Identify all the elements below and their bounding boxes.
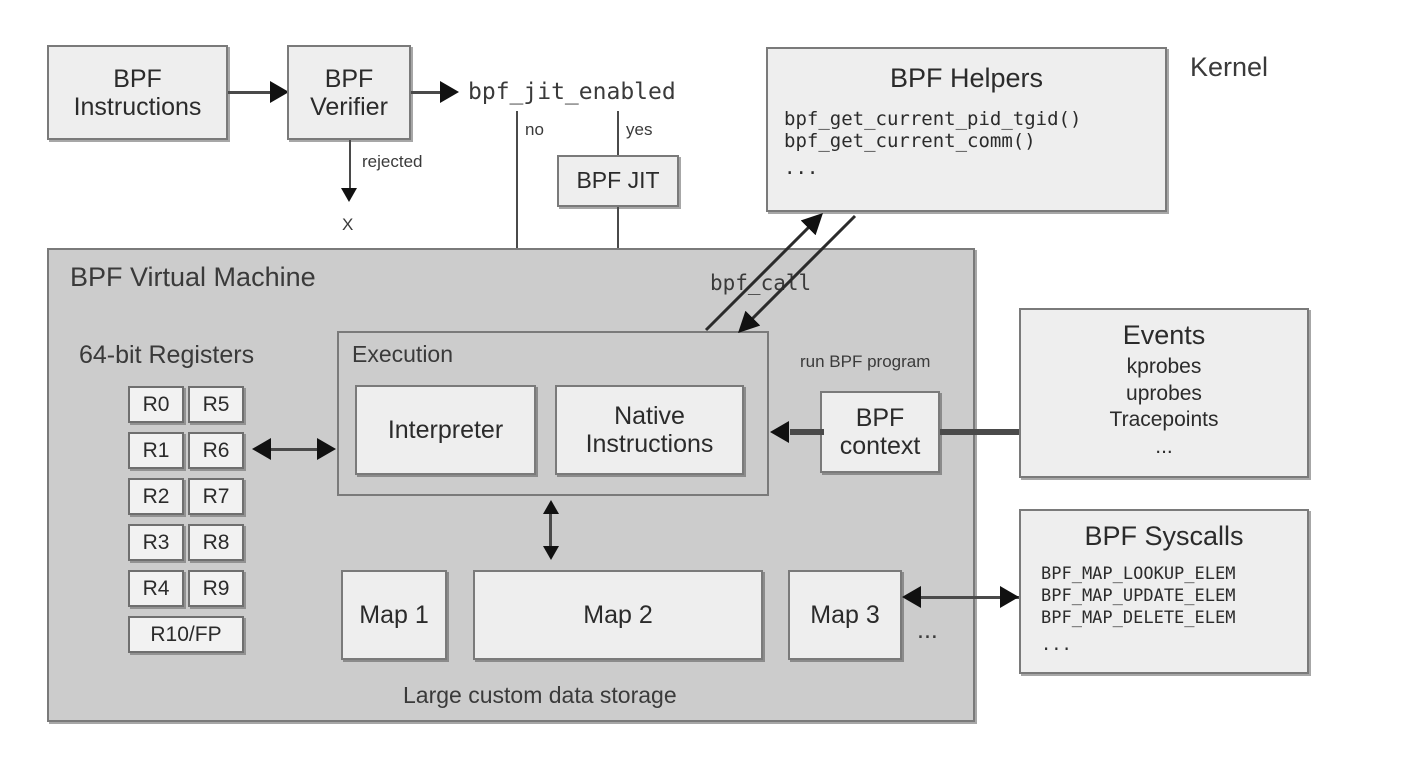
arrow-execution-maps-line [549,510,552,550]
arrow-map3-syscalls-head-right [1000,586,1019,608]
bpf-instructions-line1: BPF [113,65,162,93]
events-item-2: Tracepoints [1110,407,1219,433]
bpf-context-line2: context [840,432,921,460]
execution-title: Execution [352,341,453,368]
rejected-label: rejected [362,152,422,172]
branch-yes-line-top [617,111,619,155]
native-instructions-line2: Instructions [586,430,714,458]
branch-no-label: no [525,120,544,140]
map-1-label: Map 1 [359,601,428,629]
bpf-helpers-item-1: bpf_get_current_comm() [784,131,1081,152]
arrow-execution-maps-head-up [543,500,559,514]
native-instructions-line1: Native [614,402,685,430]
bpf-verifier-line1: BPF [325,65,374,93]
branch-yes-label: yes [626,120,652,140]
map-3-label: Map 3 [810,601,879,629]
rejected-x-mark: X [342,215,353,235]
map-2-box: Map 2 [473,570,763,660]
bpf-syscalls-title: BPF Syscalls [1084,521,1243,551]
arrow-context-to-execution-head [770,421,789,443]
bpf-syscalls-item-1: BPF_MAP_UPDATE_ELEM [1041,585,1235,607]
interpreter-label: Interpreter [388,416,503,444]
kernel-label: Kernel [1190,52,1268,83]
storage-label: Large custom data storage [403,682,677,709]
map-1-box: Map 1 [341,570,447,660]
arrow-registers-execution-head-left [252,438,271,460]
arrow-map3-syscalls-head-left [902,586,921,608]
bpf-helpers-item-0: bpf_get_current_pid_tgid() [784,109,1081,130]
bpf-call-label: bpf_call [710,271,811,295]
register-r10-fp: R10/FP [128,616,244,653]
register-r9: R9 [188,570,244,607]
interpreter-box: Interpreter [355,385,536,475]
bpf-instructions-box: BPF Instructions [47,45,228,140]
register-r8: R8 [188,524,244,561]
bpf-syscalls-box: BPF Syscalls BPF_MAP_LOOKUP_ELEM BPF_MAP… [1019,509,1309,674]
arrow-registers-execution-line [262,448,324,451]
register-r6: R6 [188,432,244,469]
bpf-instructions-line2: Instructions [74,93,202,121]
events-item-3: ... [1110,434,1219,460]
bpf-verifier-line2: Verifier [310,93,388,121]
registers-title: 64-bit Registers [79,341,254,370]
events-title: Events [1123,320,1206,350]
bpf-verifier-box: BPF Verifier [287,45,411,140]
arrow-rejected-head [341,188,357,202]
bpf-context-line1: BPF [856,404,905,432]
register-r5: R5 [188,386,244,423]
bpf-syscalls-item-3: ... [1041,634,1235,656]
map-3-box: Map 3 [788,570,902,660]
register-r3: R3 [128,524,184,561]
maps-ellipsis: ... [917,616,938,645]
bpf-jit-label: BPF JIT [576,168,659,194]
bpf-helpers-title: BPF Helpers [890,63,1043,93]
arrow-execution-maps-head-down [543,546,559,560]
bpf-helpers-box: BPF Helpers bpf_get_current_pid_tgid() b… [766,47,1167,212]
arrow-events-to-context-line [940,429,1019,435]
arrow-registers-execution-head-right [317,438,336,460]
bpf-jit-enabled-label: bpf_jit_enabled [468,79,676,105]
bpf-jit-box: BPF JIT [557,155,679,207]
register-r2: R2 [128,478,184,515]
register-r7: R7 [188,478,244,515]
bpf-architecture-diagram: Kernel BPF Instructions BPF Verifier rej… [0,0,1402,774]
arrow-instructions-to-verifier-line [228,91,272,94]
events-box: Events kprobes uprobes Tracepoints ... [1019,308,1309,478]
vm-title: BPF Virtual Machine [70,262,316,293]
native-instructions-box: Native Instructions [555,385,744,475]
events-item-0: kprobes [1110,354,1219,380]
bpf-syscalls-item-2: BPF_MAP_DELETE_ELEM [1041,607,1235,629]
arrow-verifier-to-jitenabled-head [440,81,459,103]
bpf-syscalls-item-0: BPF_MAP_LOOKUP_ELEM [1041,563,1235,585]
register-r0: R0 [128,386,184,423]
events-item-1: uprobes [1110,381,1219,407]
bpf-context-box: BPF context [820,391,940,473]
map-2-label: Map 2 [583,601,652,629]
arrow-rejected-line [349,140,351,192]
arrow-context-to-execution-line [790,429,824,435]
run-bpf-program-label: run BPF program [800,352,930,372]
register-r1: R1 [128,432,184,469]
bpf-helpers-item-2: ... [784,158,1081,179]
register-r4: R4 [128,570,184,607]
